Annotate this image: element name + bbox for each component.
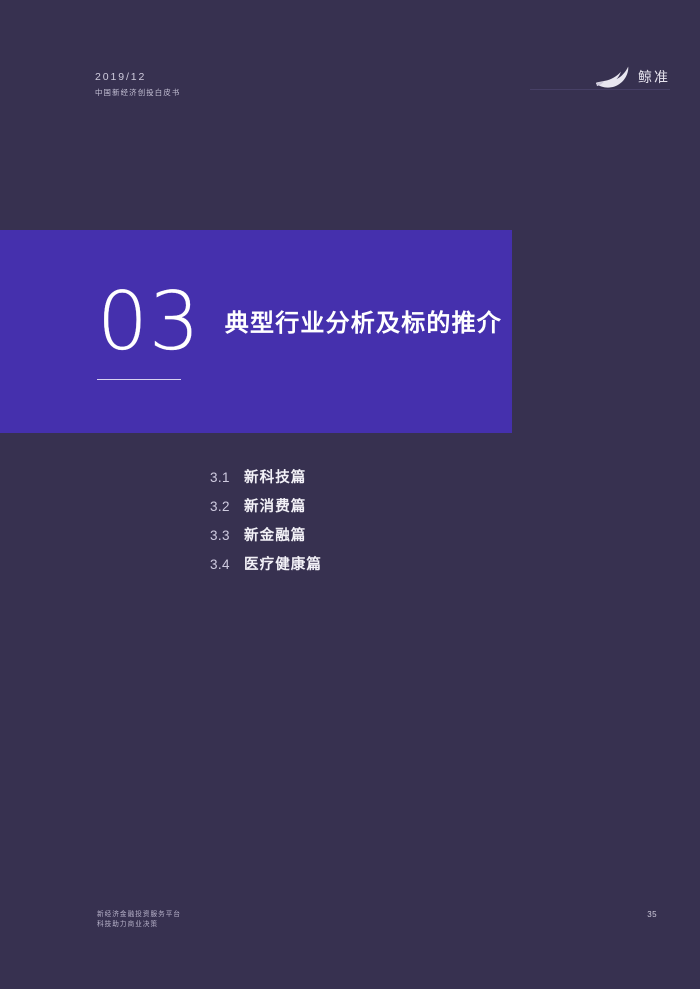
brand-name: 鲸准	[638, 67, 670, 87]
footer-tagline: 新经济金融投资服务平台 科技助力商业决策	[97, 910, 181, 929]
section-toc: 3.1 新科技篇 3.2 新消费篇 3.3 新金融篇 3.4 医疗健康篇	[210, 466, 322, 582]
page-header: 2019/12 中国新经济创投白皮书 鲸准	[0, 0, 700, 120]
toc-item-3-2[interactable]: 3.2 新消费篇	[210, 495, 322, 524]
toc-number: 3.4	[210, 557, 244, 572]
section-hero-block: 03 典型行业分析及标的推介	[0, 230, 512, 433]
whale-icon	[595, 66, 629, 88]
toc-label: 新金融篇	[244, 524, 306, 545]
report-date: 2019/12	[95, 71, 180, 84]
page-number: 35	[647, 910, 657, 920]
header-divider	[530, 89, 670, 90]
toc-item-3-1[interactable]: 3.1 新科技篇	[210, 466, 322, 495]
section-number-group: 03	[97, 284, 201, 380]
toc-item-3-3[interactable]: 3.3 新金融篇	[210, 524, 322, 553]
toc-label: 新消费篇	[244, 495, 306, 516]
report-subtitle: 中国新经济创投白皮书	[95, 87, 180, 99]
toc-number: 3.1	[210, 470, 244, 485]
header-meta: 2019/12 中国新经济创投白皮书	[95, 71, 180, 99]
toc-label: 新科技篇	[244, 466, 306, 487]
toc-number: 3.3	[210, 528, 244, 543]
toc-label: 医疗健康篇	[244, 553, 322, 574]
section-number-underline	[97, 379, 181, 380]
section-hero-inner: 03 典型行业分析及标的推介	[97, 230, 502, 433]
section-title: 典型行业分析及标的推介	[225, 309, 502, 339]
section-number: 03	[97, 284, 201, 360]
slide-page: 2019/12 中国新经济创投白皮书 鲸准 03 典型行业分析及标的推介 3.1…	[0, 0, 700, 989]
footer-tagline-line-2: 科技助力商业决策	[97, 920, 181, 930]
toc-item-3-4[interactable]: 3.4 医疗健康篇	[210, 553, 322, 582]
brand-logo: 鲸准	[595, 66, 670, 88]
footer-tagline-line-1: 新经济金融投资服务平台	[97, 910, 181, 920]
toc-number: 3.2	[210, 499, 244, 514]
